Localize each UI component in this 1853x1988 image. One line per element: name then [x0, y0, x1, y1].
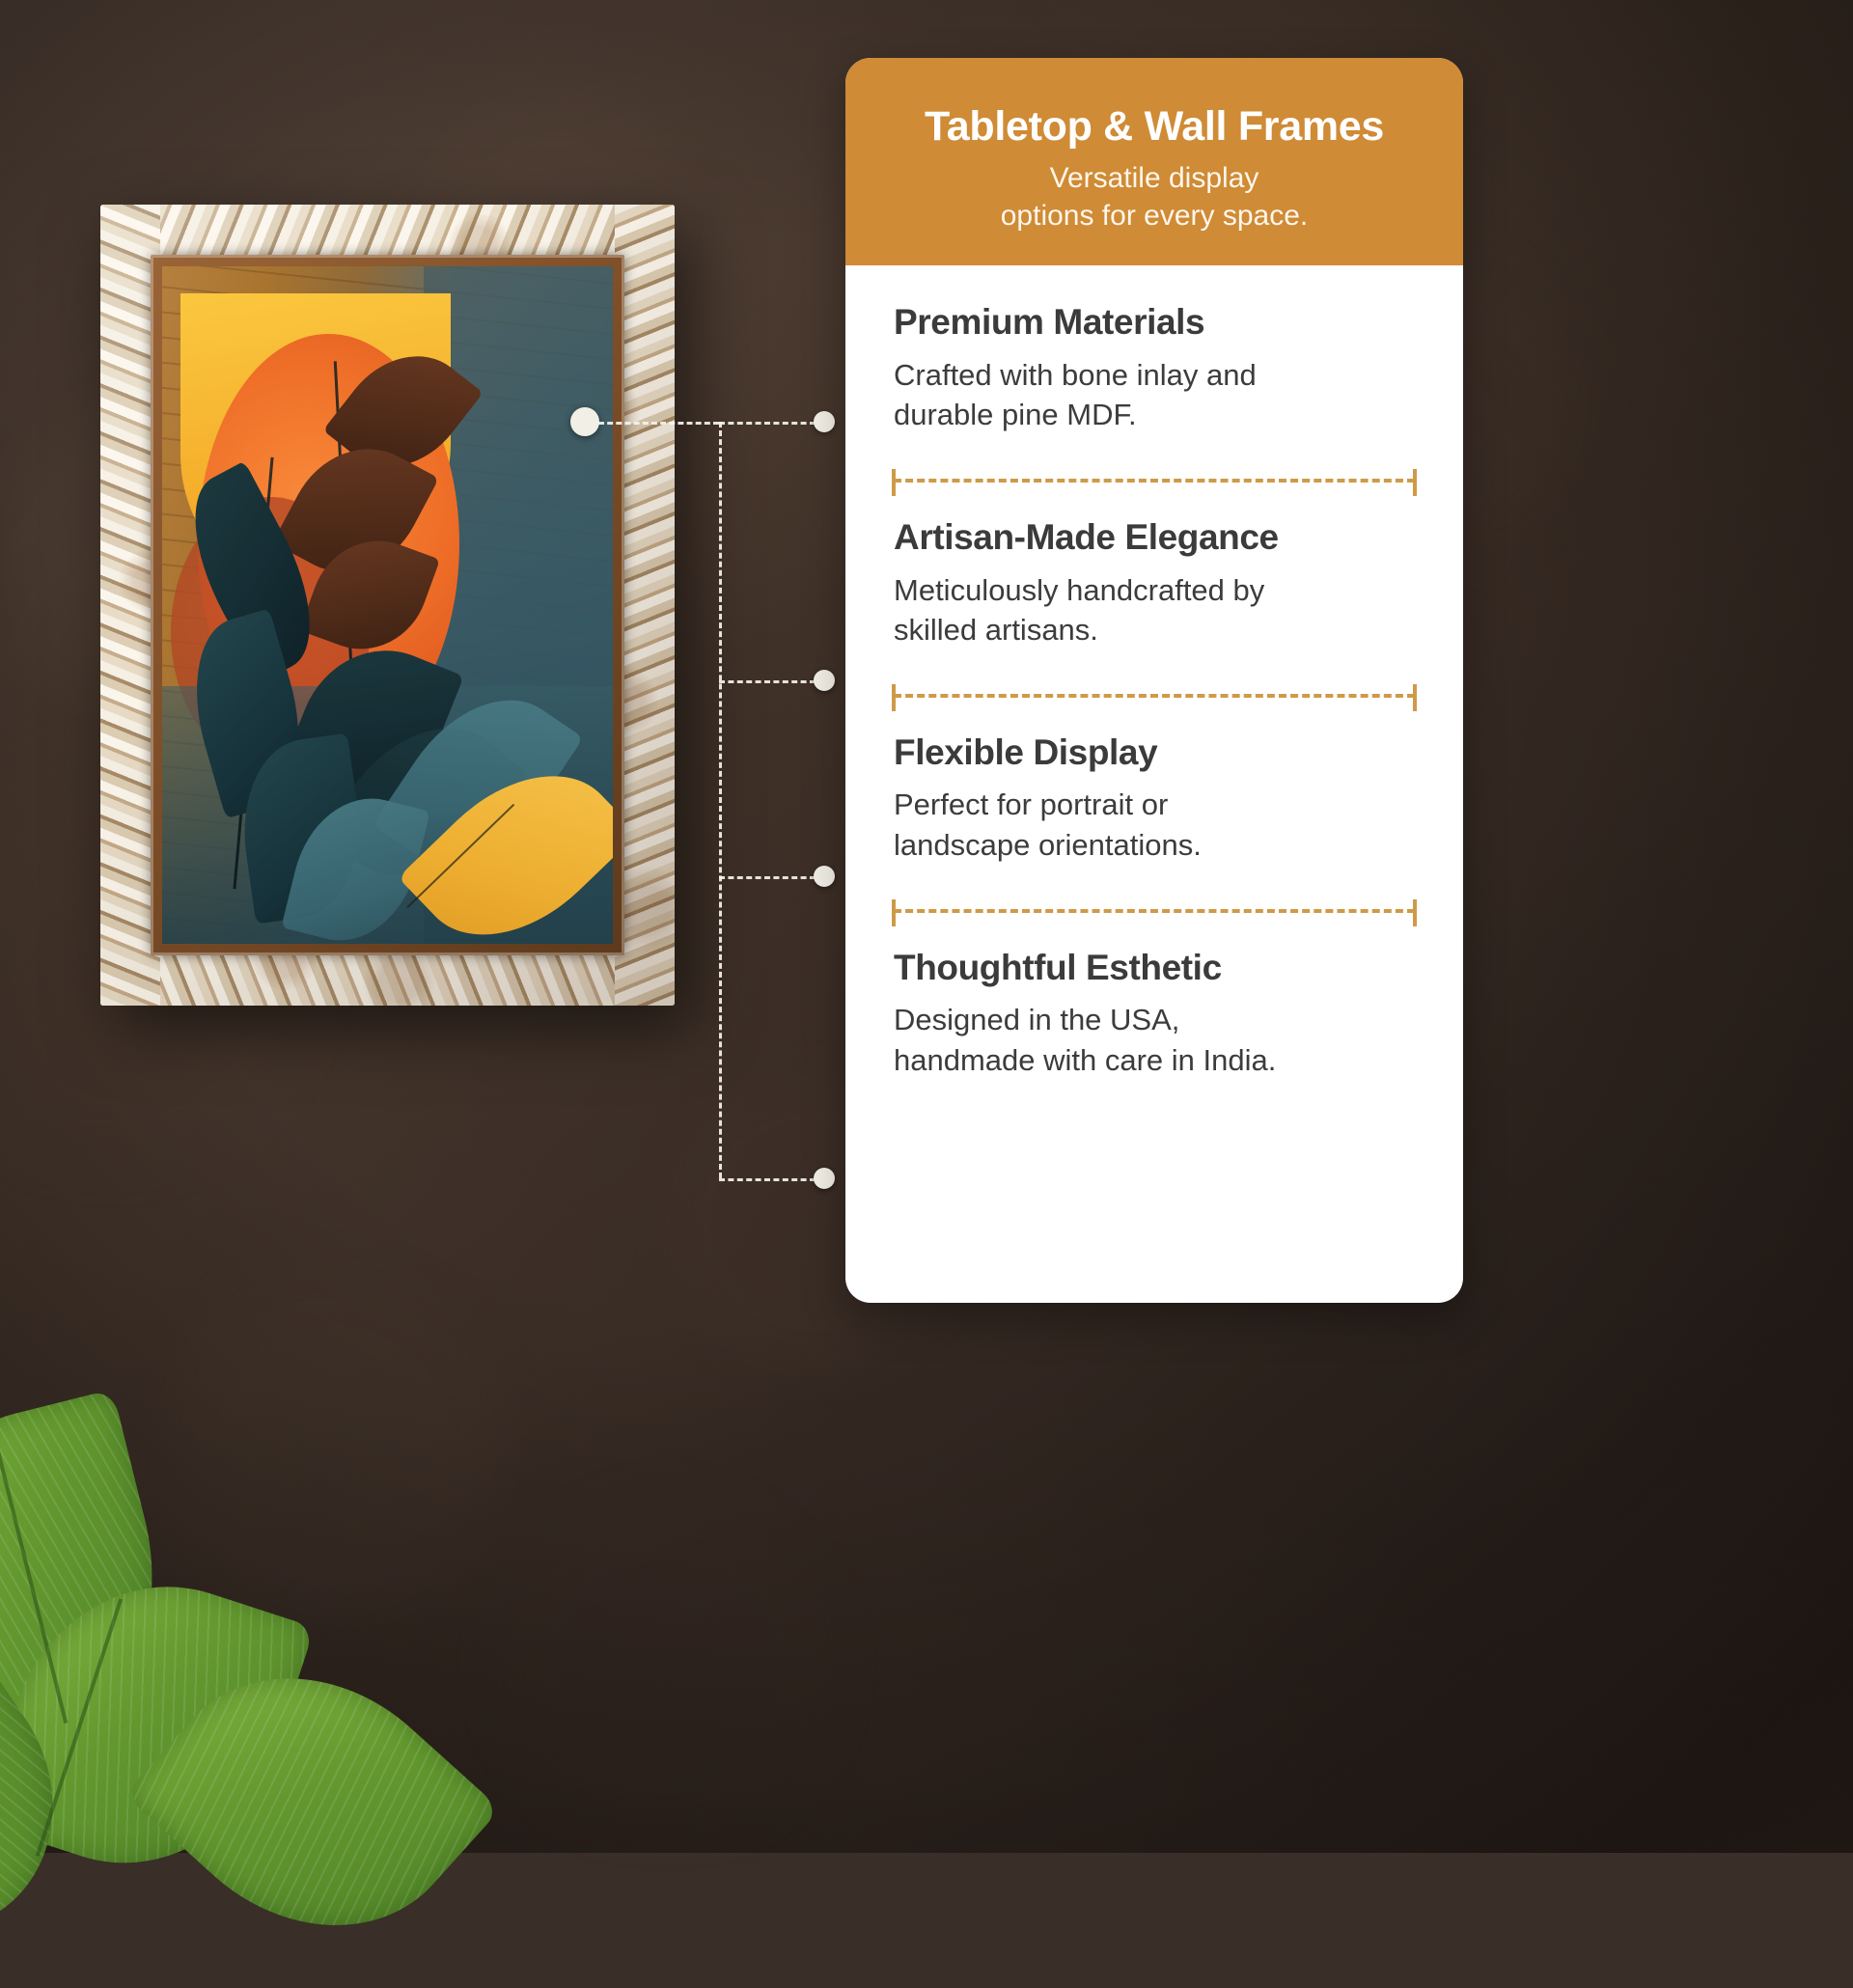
feature-body: Meticulously handcrafted by skilled arti… [894, 570, 1415, 649]
feature-body: Designed in the USA, handmade with care … [894, 1000, 1415, 1079]
feature-divider-3 [894, 909, 1415, 913]
feature-item-flexible-display: Flexible Display Perfect for portrait or… [845, 700, 1463, 870]
feature-body-line-1: Designed in the USA, [894, 1003, 1179, 1036]
feature-body-line-1: Crafted with bone inlay and [894, 358, 1257, 392]
feature-list: Premium Materials Crafted with bone inla… [845, 265, 1463, 1107]
feature-body-line-1: Meticulously handcrafted by [894, 573, 1264, 607]
feature-item-premium-materials: Premium Materials Crafted with bone inla… [845, 269, 1463, 440]
panel-subtitle: Versatile display options for every spac… [880, 160, 1428, 235]
panel-subtitle-line-2: options for every space. [1001, 200, 1309, 232]
feature-title: Flexible Display [894, 732, 1415, 772]
panel-title: Tabletop & Wall Frames [880, 104, 1428, 149]
feature-body-line-2: durable pine MDF. [894, 398, 1137, 431]
feature-body: Perfect for portrait or landscape orient… [894, 785, 1415, 864]
feature-item-thoughtful-esthetic: Thoughtful Esthetic Designed in the USA,… [845, 915, 1463, 1086]
feature-body: Crafted with bone inlay and durable pine… [894, 355, 1415, 434]
panel-subtitle-line-1: Versatile display [1050, 162, 1259, 194]
feature-body-line-2: landscape orientations. [894, 828, 1202, 862]
feature-title: Artisan-Made Elegance [894, 517, 1415, 557]
framed-artwork-product [100, 205, 675, 1006]
feature-divider-2 [894, 694, 1415, 698]
feature-body-line-2: handmade with care in India. [894, 1043, 1276, 1077]
artwork-canvas [162, 266, 613, 944]
feature-divider-1 [894, 479, 1415, 483]
feature-info-panel: Tabletop & Wall Frames Versatile display… [845, 58, 1463, 1303]
feature-body-line-1: Perfect for portrait or [894, 787, 1168, 821]
panel-header: Tabletop & Wall Frames Versatile display… [845, 58, 1463, 265]
feature-body-line-2: skilled artisans. [894, 613, 1098, 647]
foreground-plant [0, 1332, 415, 1872]
feature-title: Thoughtful Esthetic [894, 948, 1415, 987]
feature-item-artisan-made-elegance: Artisan-Made Elegance Meticulously handc… [845, 484, 1463, 655]
feature-title: Premium Materials [894, 302, 1415, 342]
